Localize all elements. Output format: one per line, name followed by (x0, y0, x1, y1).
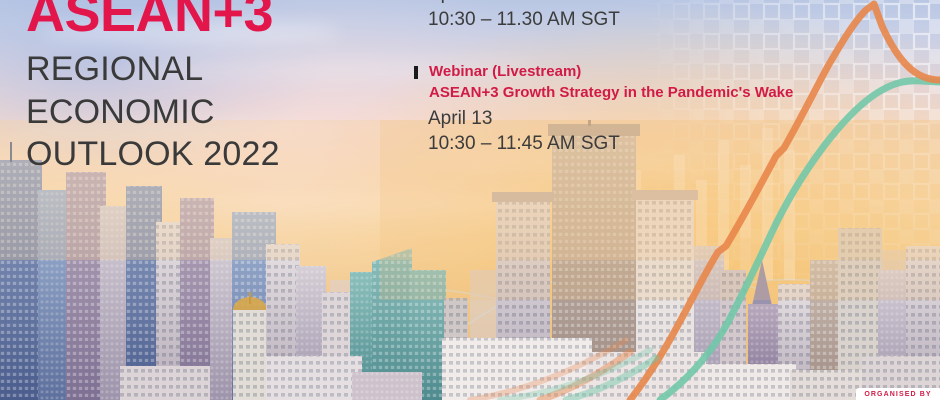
title-block: ASEAN+3 REGIONAL ECONOMIC OUTLOOK 2022 (26, 0, 406, 176)
event-heading: Webinar (Livestream) ASEAN+3 Growth Stra… (414, 62, 884, 103)
event-type-label: Webinar (Livestream) (429, 62, 884, 82)
promo-banner: ASEAN+3 REGIONAL ECONOMIC OUTLOOK 2022 A… (0, 0, 940, 400)
event-date: April 12 (428, 0, 884, 7)
event-time: 10:30 – 11:45 AM SGT (428, 131, 884, 157)
organised-by-box: ORGANISED BY (856, 388, 940, 400)
event-list: April 12 10:30 – 11.30 AM SGT Webinar (L… (414, 0, 884, 183)
event-item: Webinar (Livestream) ASEAN+3 Growth Stra… (414, 62, 884, 157)
event-date: April 13 (428, 106, 884, 132)
event-time: 10:30 – 11.30 AM SGT (428, 7, 884, 33)
event-title: ASEAN+3 Growth Strategy in the Pandemic'… (429, 83, 884, 103)
event-item: April 12 10:30 – 11.30 AM SGT (414, 0, 884, 32)
page-title: REGIONAL ECONOMIC OUTLOOK 2022 (26, 48, 406, 176)
bullet-marker-icon (414, 66, 418, 79)
brand-title: ASEAN+3 (26, 0, 406, 40)
organised-by-label: ORGANISED BY (856, 391, 940, 398)
